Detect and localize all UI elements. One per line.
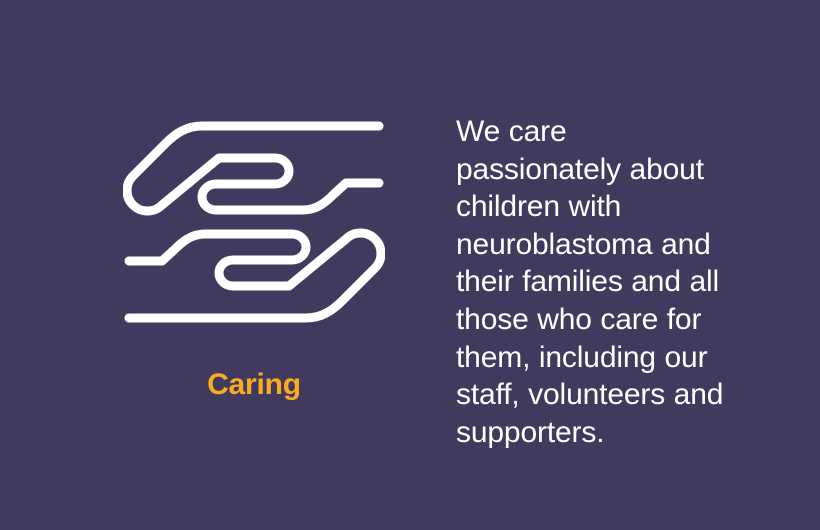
description-text: We care passionately about children with… — [456, 113, 724, 451]
value-card: Caring We care passionately about childr… — [0, 0, 820, 530]
icon-column: Caring — [104, 118, 404, 418]
value-label: Caring — [207, 370, 301, 400]
description-column: We care passionately about children with… — [456, 113, 724, 451]
caring-hands-icon — [123, 118, 385, 326]
